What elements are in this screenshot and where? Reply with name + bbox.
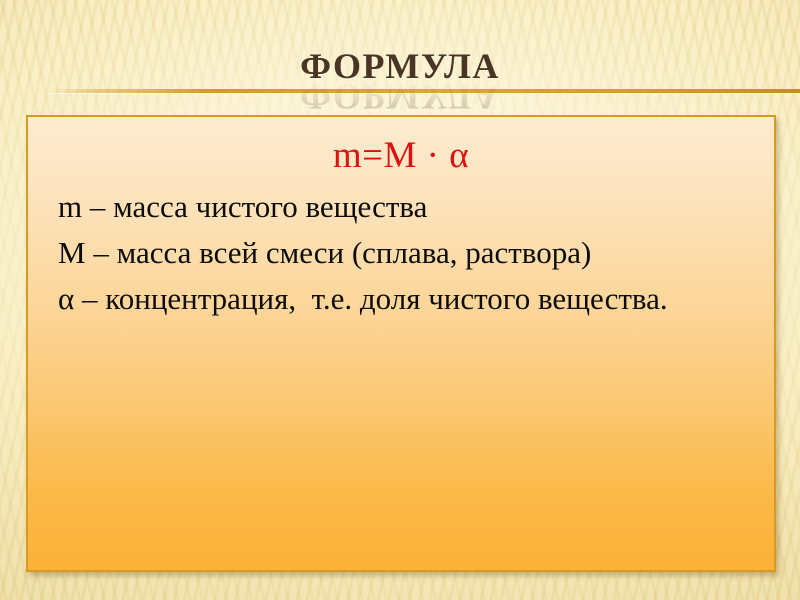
title-divider-rule (48, 89, 800, 93)
definition-item-m: m – масса чистого вещества (50, 186, 752, 228)
slide-canvas: Формула Формула m=M · α m – масса чистог… (0, 0, 800, 600)
formula-expression: m=M · α (50, 135, 752, 178)
page-title: Формула (300, 48, 500, 84)
page-title-container: Формула (0, 48, 800, 84)
definition-item-big-m: М – масса всей смеси (сплава, раствора) (50, 232, 752, 274)
content-panel: m=M · α m – масса чистого вещества М – м… (26, 115, 776, 572)
definition-item-alpha: α – концентрация, т.е. доля чистого веще… (50, 278, 752, 320)
